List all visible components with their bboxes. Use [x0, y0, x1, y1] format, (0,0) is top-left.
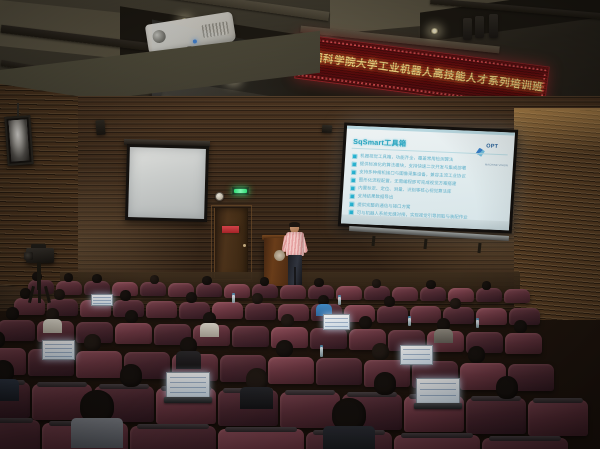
attendee-head	[482, 281, 491, 290]
seat[interactable]	[76, 351, 122, 378]
main-projection-screen: OPT MACHINE VISION SqSmart工具箱 机器视觉工具箱，功能…	[338, 122, 518, 233]
presenter-shirt	[286, 232, 304, 256]
attendee-head	[514, 320, 527, 333]
seat[interactable]	[528, 400, 588, 436]
seat[interactable]	[218, 429, 304, 449]
attendee-head	[64, 273, 73, 282]
laptop-screen	[323, 314, 350, 330]
attendee-torso	[71, 418, 123, 448]
seat[interactable]	[196, 283, 222, 297]
seat-headrest	[285, 390, 335, 395]
projector-vent	[201, 21, 229, 38]
seat[interactable]	[280, 285, 306, 299]
attendee-head	[426, 280, 436, 289]
seat[interactable]	[268, 357, 314, 384]
seat[interactable]	[140, 282, 166, 296]
square-bullet-icon	[350, 186, 355, 191]
seat[interactable]	[0, 420, 40, 449]
presenter-hair	[289, 222, 300, 227]
door-handle[interactable]	[243, 244, 246, 247]
seat-headrest	[225, 427, 297, 432]
attendee-torso	[176, 351, 201, 369]
seat[interactable]	[212, 302, 243, 319]
photograph-image	[9, 119, 30, 161]
seat[interactable]	[482, 438, 568, 449]
attendee-head	[150, 275, 159, 284]
attendee-head	[374, 372, 396, 395]
seat[interactable]	[466, 398, 526, 434]
seat[interactable]	[504, 289, 530, 303]
attendee-head	[468, 346, 485, 363]
seat[interactable]	[316, 358, 362, 385]
attendee-head	[276, 340, 293, 357]
laptop-keyboard[interactable]	[164, 397, 212, 403]
seat-headrest	[0, 418, 33, 423]
seat[interactable]	[0, 320, 35, 341]
square-bullet-icon	[349, 202, 354, 207]
seat[interactable]	[392, 287, 418, 301]
presentation-slide: OPT MACHINE VISION SqSmart工具箱 机器视觉工具箱，功能…	[341, 126, 515, 231]
attendee-torso	[434, 329, 453, 343]
attendee-torso	[0, 379, 19, 401]
water-bottle	[476, 320, 479, 328]
laptop[interactable]	[42, 340, 75, 362]
attendee-head	[6, 307, 19, 320]
seat-headrest	[401, 433, 473, 438]
attendee-head	[372, 343, 389, 360]
hanging-stage-light	[463, 18, 472, 40]
bullet-text: 提供完整的通信与接口方案	[357, 202, 411, 209]
laptop-screen	[416, 378, 460, 404]
square-bullet-icon	[352, 161, 357, 166]
attendee-head	[260, 277, 269, 286]
side-projection-screen	[125, 144, 209, 222]
laptop-screen	[42, 340, 75, 360]
attendee-head	[314, 278, 324, 287]
attendee-head	[252, 293, 263, 304]
seat[interactable]	[410, 306, 441, 323]
wall-speaker	[322, 125, 333, 134]
attendee-head	[372, 279, 381, 288]
laptop-screen	[166, 372, 210, 398]
attendee-head	[384, 296, 395, 307]
framed-photograph	[4, 115, 33, 166]
square-bullet-icon	[350, 194, 355, 199]
seat[interactable]	[420, 287, 446, 301]
square-bullet-icon	[351, 169, 356, 174]
laptop[interactable]	[91, 294, 113, 308]
seat[interactable]	[377, 306, 408, 323]
slide-bullet-list: 机器视觉工具箱，功能齐全，覆盖常用检测算法 提供标准化的算法模块，支持快速二次开…	[348, 153, 506, 224]
exit-sign	[232, 187, 249, 195]
attendee-head	[496, 376, 518, 399]
seat[interactable]	[146, 301, 177, 318]
projector-lens-icon	[152, 29, 167, 44]
water-bottle	[338, 297, 341, 305]
camera-body	[26, 248, 54, 263]
laptop[interactable]	[166, 372, 210, 402]
water-bottle	[232, 295, 235, 303]
attendee-head	[84, 334, 101, 351]
laptop[interactable]	[416, 378, 460, 408]
seat[interactable]	[84, 281, 110, 295]
seat[interactable]	[130, 426, 216, 449]
ceiling-spotlight	[430, 28, 439, 34]
seat-headrest	[37, 382, 87, 387]
attendee-head	[120, 290, 131, 301]
attendee-head	[450, 298, 461, 309]
laptop-screen	[91, 294, 113, 306]
tripod-leg	[38, 286, 41, 303]
water-bottle	[408, 318, 411, 326]
attendee-torso	[323, 426, 375, 449]
attendee-head	[186, 292, 197, 303]
bullet-text: 支持结果数据导出	[358, 194, 394, 201]
laptop[interactable]	[323, 314, 350, 332]
seat[interactable]	[394, 435, 480, 449]
attendee-head	[359, 316, 372, 329]
laptop-screen	[400, 345, 433, 365]
laptop[interactable]	[400, 345, 433, 367]
seat[interactable]	[280, 392, 340, 428]
side-screen-surface	[128, 147, 206, 219]
attendee-head	[281, 314, 294, 327]
tripod-leg	[44, 286, 51, 303]
seat[interactable]	[476, 288, 502, 302]
seat-headrest	[533, 398, 583, 403]
seat[interactable]	[245, 303, 276, 320]
attendee-head	[202, 276, 212, 285]
hanging-stage-light	[475, 16, 484, 38]
seat-headrest	[489, 436, 561, 441]
screen-frame: OPT MACHINE VISION SqSmart工具箱 机器视觉工具箱，功能…	[338, 122, 518, 233]
attendee-head	[125, 310, 138, 323]
attendee-torso	[200, 323, 219, 337]
seat[interactable]	[476, 308, 507, 325]
seat[interactable]	[115, 323, 152, 344]
attendee-torso	[43, 319, 62, 333]
square-bullet-icon	[352, 153, 357, 158]
logo-text: OPT	[486, 143, 498, 149]
seat[interactable]	[505, 333, 542, 354]
projector-status-led	[193, 39, 198, 44]
exit-sign-glyph-icon	[234, 189, 247, 194]
door-notice-plate	[222, 226, 239, 233]
wall-clock	[215, 192, 224, 201]
attendee-head	[92, 274, 102, 283]
seat[interactable]	[232, 326, 269, 347]
camera-lens-icon	[24, 252, 33, 260]
video-camera[interactable]	[22, 248, 56, 302]
water-bottle	[320, 347, 323, 357]
attendee-torso	[240, 387, 273, 409]
attendee-head	[120, 364, 142, 387]
seat-headrest	[137, 424, 209, 429]
lecture-hall-photo: 中国科学院大学工业机器人高技能人才系列培训班 OPT MACHINE VISIO…	[0, 0, 600, 449]
audience-seating-area	[0, 262, 600, 449]
hanging-stage-light	[489, 14, 498, 38]
wall-speaker	[95, 120, 105, 136]
right-wall-highlight	[514, 108, 600, 154]
square-bullet-icon	[351, 178, 356, 183]
laptop-keyboard[interactable]	[414, 403, 462, 409]
tripod-leg	[28, 286, 35, 303]
seat[interactable]	[224, 284, 250, 298]
